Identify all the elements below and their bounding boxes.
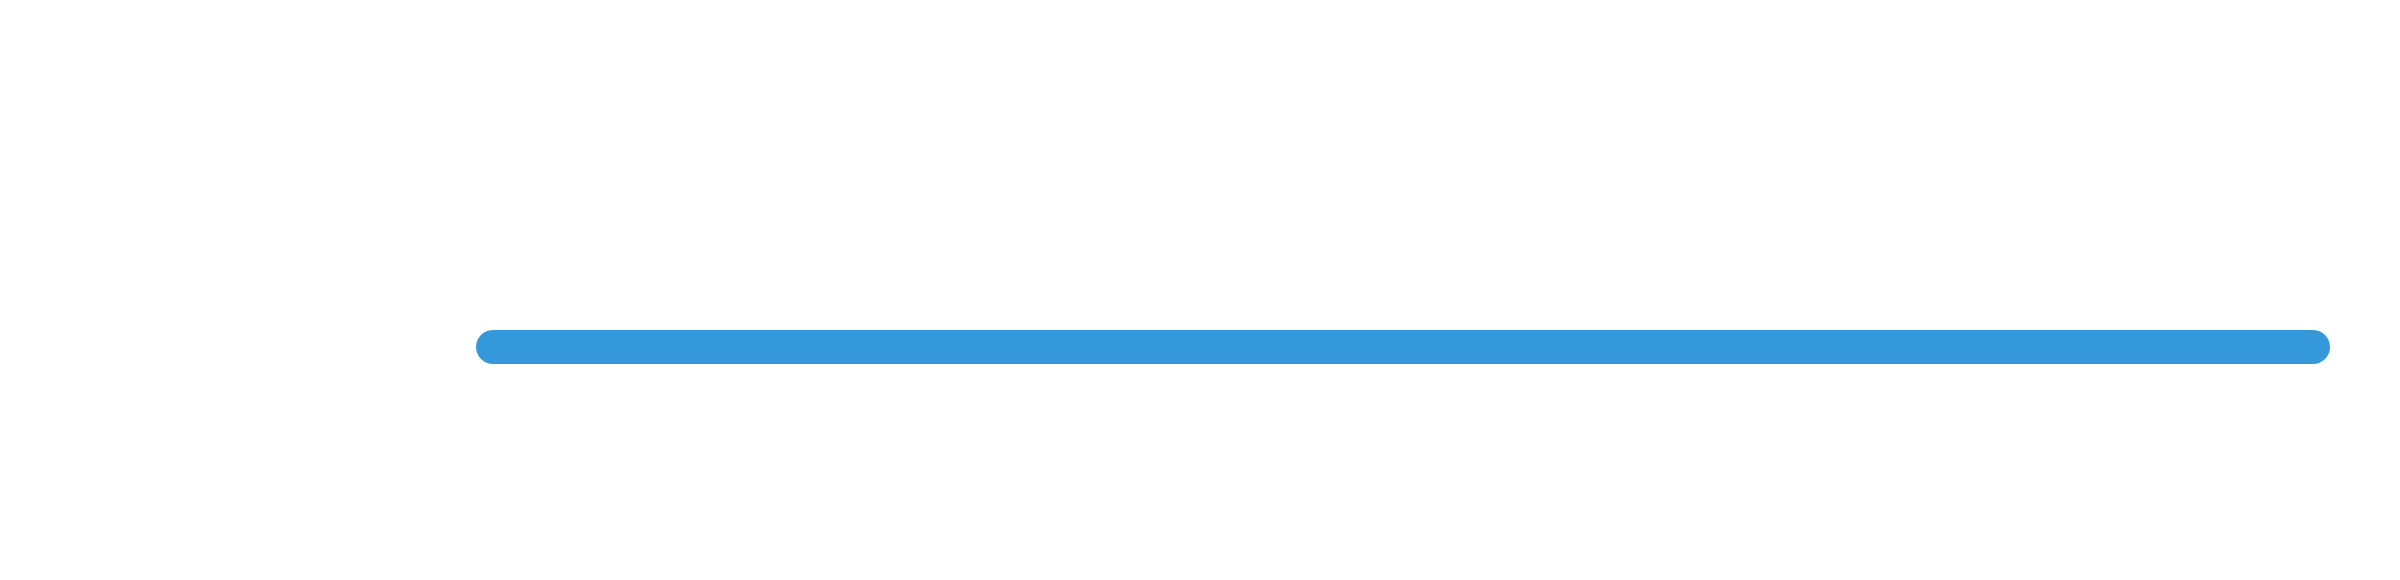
timeline-bar bbox=[476, 330, 2330, 364]
species-header-row bbox=[0, 0, 2400, 320]
phylostratum-timeline-figure bbox=[0, 0, 2400, 580]
